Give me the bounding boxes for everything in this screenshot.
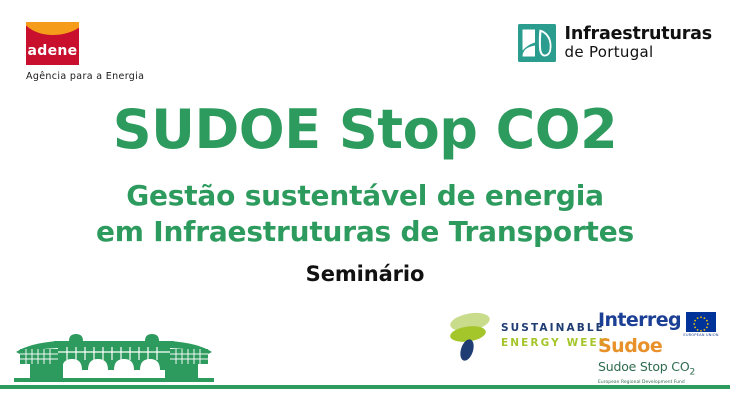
infraestruturas-de-portugal-mark	[518, 24, 556, 62]
infraestruturas-de-portugal-wordmark: Infraestruturas de Portugal	[565, 26, 712, 60]
eu-flag-icon	[686, 312, 716, 332]
adene-logo-mark: adene	[26, 22, 79, 65]
ip-wordmark-line1: Infraestruturas	[565, 26, 712, 44]
adene-mark-swoosh	[26, 22, 79, 35]
page-subtitle: Gestão sustentável de energia em Infraes…	[0, 178, 730, 250]
seminar-label: Seminário	[0, 262, 730, 286]
eu-flag-block: EUROPEAN UNION	[686, 312, 716, 336]
sew-wordmark-line1: SUSTAINABLE	[501, 321, 609, 336]
page-title: SUDOE Stop CO2	[0, 103, 730, 157]
adene-wordmark: adene	[26, 43, 79, 59]
presentation-slide: adene Agência para a Energia Infraestrut…	[0, 0, 730, 400]
sudoe-programme-text: Sudoe Stop CO	[598, 359, 689, 374]
bottom-rule	[0, 385, 730, 389]
interreg-top-row: Interreg	[598, 311, 716, 336]
ip-wordmark-line2: de Portugal	[565, 45, 712, 60]
sew-wordmark-line2: ENERGY WEEK	[501, 336, 609, 351]
sudoe-programme-subscript: 2	[689, 367, 695, 377]
transport-terminal-building-illustration	[14, 330, 214, 385]
title-block: SUDOE Stop CO2 Gestão sustentável de ene…	[0, 103, 730, 286]
sudoe-programme-name: Sudoe Stop CO2	[598, 359, 716, 378]
sudoe-wordmark: Sudoe	[598, 337, 716, 357]
adene-tagline: Agência para a Energia	[26, 71, 158, 82]
interreg-sudoe-logo: Interreg	[598, 311, 716, 383]
infraestruturas-de-portugal-logo: Infraestruturas de Portugal	[518, 24, 712, 62]
sustainable-energy-week-logo: SUSTAINABLE ENERGY WEEK	[448, 310, 609, 362]
sustainable-energy-week-mark	[448, 310, 494, 362]
page-subtitle-line2: em Infraestruturas de Transportes	[0, 214, 730, 250]
erdf-caption: European Regional Development Fund	[598, 379, 730, 384]
eu-flag-caption: EUROPEAN UNION	[680, 333, 722, 337]
sustainable-energy-week-wordmark: SUSTAINABLE ENERGY WEEK	[501, 321, 609, 351]
adene-logo: adene Agência para a Energia	[26, 22, 158, 82]
page-subtitle-line1: Gestão sustentável de energia	[0, 178, 730, 214]
interreg-wordmark: Interreg	[598, 311, 681, 330]
